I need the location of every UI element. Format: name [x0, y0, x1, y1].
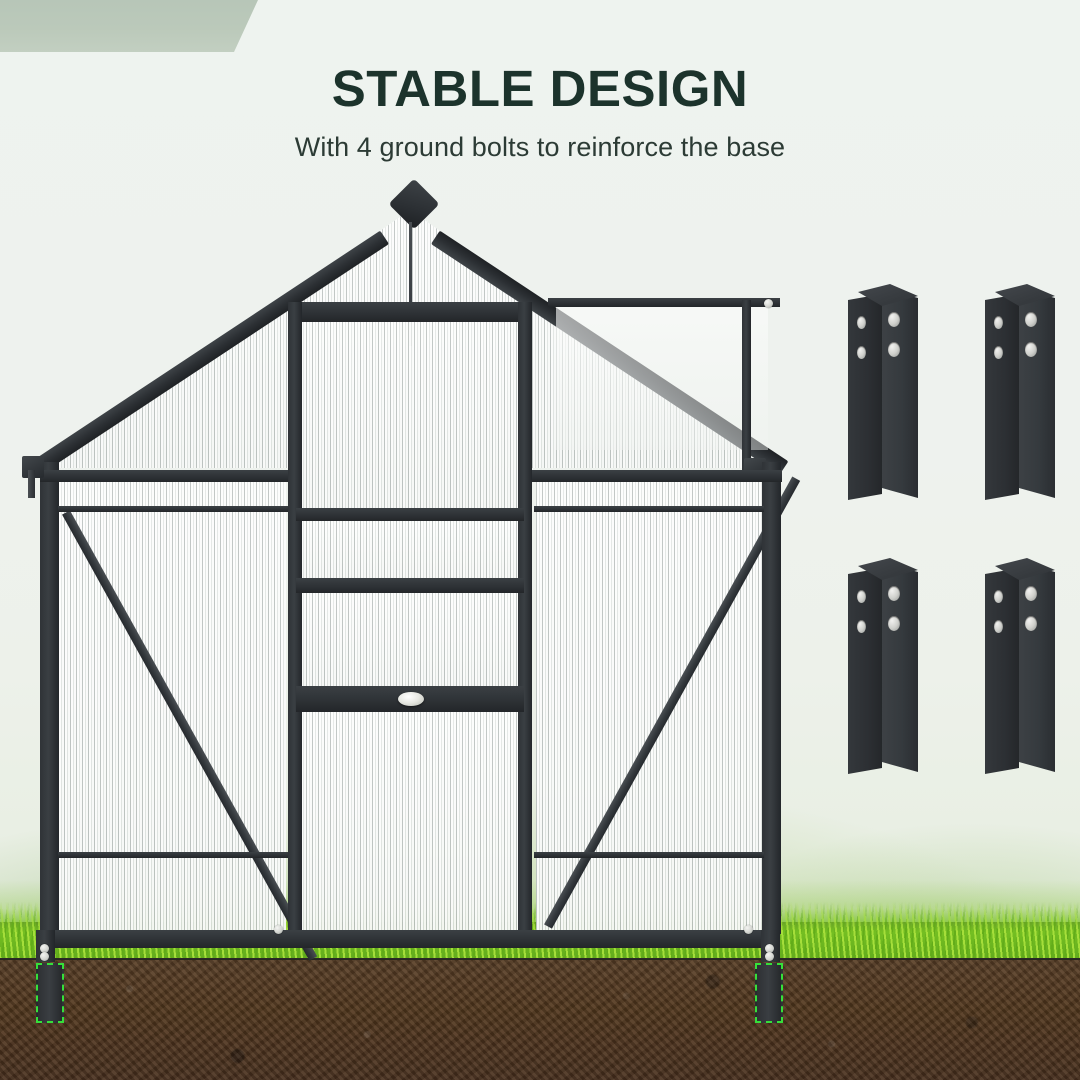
anchor-bolt-hole — [857, 590, 866, 603]
door-rail-1 — [296, 508, 524, 521]
right-wall-eave-rail — [534, 506, 764, 512]
roof-vent-glass — [556, 300, 768, 450]
anchor-bolt-hole — [994, 620, 1003, 633]
door-left-stile — [288, 302, 302, 934]
base-bolt-right-wall — [744, 925, 753, 934]
buried-anchor-right — [755, 963, 783, 1023]
left-wall-top-rail — [40, 470, 290, 482]
right-wall-panel — [536, 472, 762, 930]
base-bolt-left-wall — [274, 925, 283, 934]
ground-bolt-anchor-3 — [848, 558, 920, 780]
door-panel-lower — [300, 712, 520, 930]
greenhouse-product — [0, 0, 1080, 1080]
anchor-bolt-hole — [857, 316, 866, 329]
buried-anchor-left — [36, 963, 64, 1023]
anchor-bolt-hole — [994, 590, 1003, 603]
anchor-bolt-hole — [1025, 312, 1037, 327]
door-head-rail — [288, 302, 532, 322]
base-bolt-right-lower — [765, 952, 774, 961]
roof-vent-pivot-bolt — [764, 299, 773, 308]
anchor-bolt-hole — [857, 620, 866, 633]
ground-bolt-anchor-4 — [985, 558, 1057, 780]
anchor-bolt-hole — [888, 586, 900, 601]
base-bolt-left-lower — [40, 952, 49, 961]
ground-bolt-anchor-2 — [985, 284, 1057, 506]
door-panel-mid-upper — [300, 520, 520, 580]
door-panel-upper — [300, 320, 520, 508]
anchor-bolt-hole — [994, 316, 1003, 329]
anchor-bolt-hole — [857, 346, 866, 359]
right-wall-top-rail — [532, 470, 782, 482]
left-corner-post — [40, 462, 59, 934]
left-wall-mid-rail — [58, 852, 290, 858]
right-corner-post — [762, 462, 781, 934]
ground-bolt-anchor-1 — [848, 284, 920, 506]
door-rail-2 — [296, 578, 524, 593]
product-feature-image: STABLE DESIGN With 4 ground bolts to rei… — [0, 0, 1080, 1080]
right-wall-mid-rail — [534, 852, 764, 858]
door-right-stile — [518, 302, 532, 934]
left-eave-arm — [28, 470, 35, 498]
anchor-bolt-hole — [888, 342, 900, 357]
base-frame-rail — [36, 930, 780, 948]
door-handle[interactable] — [398, 692, 424, 706]
anchor-bolt-hole — [888, 312, 900, 327]
anchor-bolt-hole — [1025, 342, 1037, 357]
anchor-bolt-hole — [888, 616, 900, 631]
anchor-bolt-hole — [1025, 616, 1037, 631]
door-panel-mid-lower — [300, 592, 520, 688]
anchor-bolt-hole — [994, 346, 1003, 359]
anchor-bolt-hole — [1025, 586, 1037, 601]
left-wall-eave-rail — [58, 506, 290, 512]
roof-vent-right-stile — [742, 300, 751, 470]
